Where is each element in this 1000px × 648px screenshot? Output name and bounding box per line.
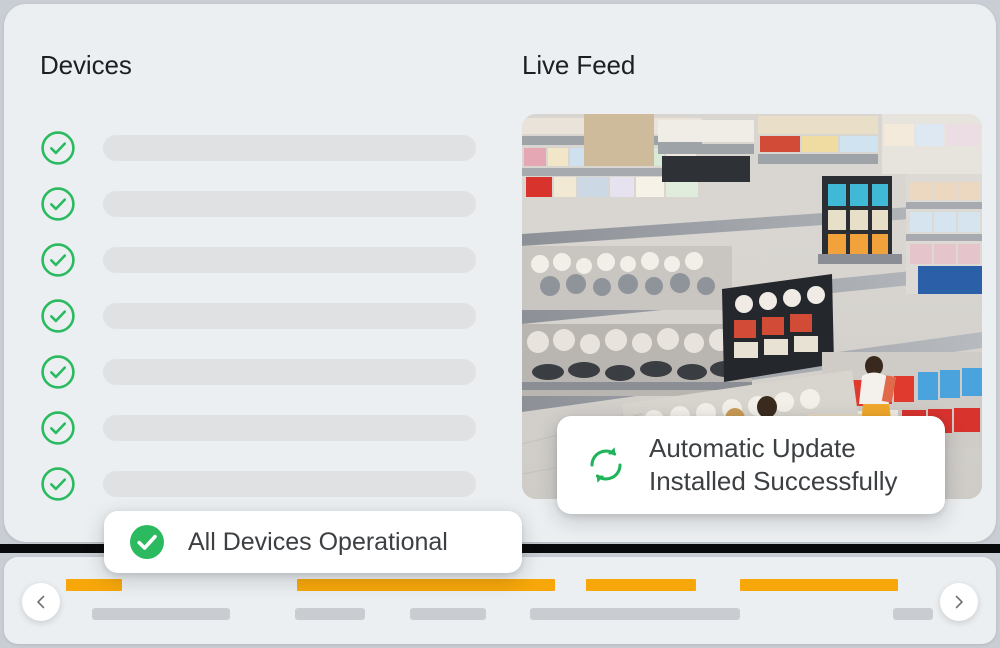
chevron-left-icon <box>33 594 49 610</box>
orange-progress-bar <box>740 579 898 591</box>
grey-label-bar <box>92 608 230 620</box>
check-circle-icon <box>40 298 76 334</box>
device-row[interactable] <box>40 232 476 288</box>
device-name-placeholder <box>103 191 476 217</box>
device-name-placeholder <box>103 359 476 385</box>
chevron-right-icon <box>951 594 967 610</box>
device-row[interactable] <box>40 288 476 344</box>
app-root: Devices Live Feed <box>0 0 1000 648</box>
grey-label-bar <box>295 608 365 620</box>
device-row[interactable] <box>40 120 476 176</box>
check-circle-icon <box>40 410 76 446</box>
sync-icon <box>585 444 627 486</box>
device-name-placeholder <box>103 415 476 441</box>
check-circle-icon <box>40 466 76 502</box>
grey-label-bar <box>893 608 933 620</box>
grey-label-bar <box>410 608 486 620</box>
check-circle-icon <box>40 186 76 222</box>
dashboard-panel: Devices Live Feed <box>4 4 996 542</box>
device-row[interactable] <box>40 176 476 232</box>
check-circle-icon <box>40 354 76 390</box>
check-circle-icon <box>40 130 76 166</box>
device-row[interactable] <box>40 344 476 400</box>
orange-progress-bar <box>586 579 696 591</box>
grey-label-bar <box>530 608 740 620</box>
toast-devices-text: All Devices Operational <box>188 526 448 559</box>
devices-list <box>40 120 476 512</box>
device-row[interactable] <box>40 400 476 456</box>
device-name-placeholder <box>103 303 476 329</box>
devices-section-title: Devices <box>40 50 132 81</box>
device-name-placeholder <box>103 471 476 497</box>
check-circle-filled-icon <box>128 523 166 561</box>
toast-update-text: Automatic Update Installed Successfully <box>649 432 898 498</box>
carousel-next-button[interactable] <box>940 583 978 621</box>
toast-all-devices-operational[interactable]: All Devices Operational <box>104 511 522 573</box>
device-name-placeholder <box>103 135 476 161</box>
device-name-placeholder <box>103 247 476 273</box>
device-row[interactable] <box>40 456 476 512</box>
orange-progress-bar <box>297 579 555 591</box>
check-circle-icon <box>40 242 76 278</box>
live-feed-section-title: Live Feed <box>522 50 635 81</box>
carousel-prev-button[interactable] <box>22 583 60 621</box>
toast-automatic-update[interactable]: Automatic Update Installed Successfully <box>557 416 945 514</box>
orange-progress-bar <box>66 579 122 591</box>
